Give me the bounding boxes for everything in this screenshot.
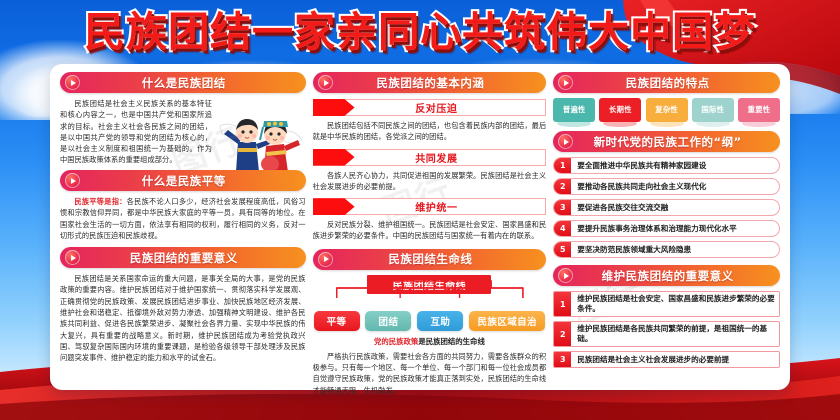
section-header-label: 民族团结的基本内涵 — [333, 75, 547, 91]
tag-importance[interactable]: 重要性 — [738, 98, 780, 122]
section-header-safeguard-significance[interactable]: 维护民族团结的重要意义 — [553, 265, 780, 286]
tag-label: 复杂性 — [655, 105, 678, 115]
numbered-list-safeguard: 1 维护民族团结是社会安定、国家昌盛和民族进步繁荣的必要条件。 2 维护民族团结… — [553, 291, 780, 368]
tag-label: 国际性 — [701, 105, 724, 115]
paragraph-oppose-oppression: 民族团结包括不同民族之间的团结，也包含着民族内部的团结，最后就是中华民族的团结，… — [313, 120, 547, 143]
subheader-oppose-oppression[interactable]: 反对压迫 — [313, 99, 547, 116]
tag-label: 普遍性 — [563, 105, 586, 115]
list-item-number: 2 — [554, 322, 571, 346]
section-header-label: 维护民族团结的重要意义 — [573, 268, 780, 284]
list-item-label: 民族团结是社会主义社会发展进步的必要前提 — [571, 352, 779, 367]
section-header-label: 民族团结的重要意义 — [80, 250, 306, 266]
intro-block: 民族团结是社会主义民族关系的基本特征和核心内容之一，也是中国共产党和国家所追求的… — [60, 98, 306, 170]
list-item-number: 2 — [554, 179, 571, 194]
tag-universality[interactable]: 普遍性 — [553, 98, 595, 122]
list-item-number: 5 — [554, 242, 571, 257]
tag-label: 长期性 — [609, 105, 632, 115]
paragraph-safeguard-unity: 反对民族分裂、维护祖国统一。民族团结是社会安定、国家昌盛和民族进步繁荣的必要条件… — [313, 219, 547, 242]
play-icon — [558, 268, 573, 283]
list-item[interactable]: 2 要推动各民族共同走向社会主义现代化 — [553, 178, 780, 195]
section-header-lifeline[interactable]: 民族团结生命线 — [313, 249, 547, 270]
paragraph-lead: 民族平等是指： — [74, 197, 126, 206]
section-header-significance-of-ethnic-unity[interactable]: 民族团结的重要意义 — [60, 247, 306, 268]
list-item[interactable]: 5 要坚决防范民族领域重大风险隐患 — [553, 241, 780, 258]
list-item[interactable]: 1 维护民族团结是社会安定、国家昌盛和民族进步繁荣的必要条件。 — [553, 291, 780, 317]
section-header-what-is-ethnic-equality[interactable]: 什么是民族平等 — [60, 170, 306, 191]
section-header-label: 什么是民族平等 — [80, 173, 306, 189]
section-header-label: 什么是民族团结 — [80, 75, 306, 91]
list-item-number: 1 — [554, 292, 571, 316]
section-header-label: 新时代党的民族工作的“纲” — [573, 134, 780, 150]
list-item-label: 要提升民族事务治理体系和治理能力现代化水平 — [571, 221, 779, 236]
list-item[interactable]: 1 要全面推进中华民族共有精神家园建设 — [553, 157, 780, 174]
list-item-number: 3 — [554, 352, 571, 367]
paragraph-what-is-ethnic-unity: 民族团结是社会主义民族关系的基本特征和核心内容之一，也是中国共产党和国家所追求的… — [60, 98, 212, 166]
paragraph-common-development: 各族人民齐心协力，共同促进祖国的发展繁荣。民族团结是社会主义社会发展进步的必要前… — [313, 170, 547, 193]
left-column: 什么是民族团结 民族团结是社会主义民族关系的基本特征和核心内容之一，也是中国共产… — [60, 72, 306, 384]
list-item-number: 3 — [554, 200, 571, 215]
play-icon — [558, 134, 573, 149]
title-part-1: 民族团结一家亲 — [84, 6, 378, 58]
poster-title: 民族团结一家亲同心共筑伟大中国梦 — [0, 6, 840, 58]
tag-international[interactable]: 国际性 — [692, 98, 734, 122]
section-header-label: 民族团结的特点 — [573, 75, 780, 91]
paragraph-lifeline: 严格执行民族政策，需要社会各方面的共同努力，需要各族群众的积极参与。只有每一个地… — [313, 351, 547, 396]
characteristic-tag-row: 普遍性 长期性 复杂性 国际性 重要性 — [553, 98, 780, 122]
list-item[interactable]: 3 民族团结是社会主义社会发展进步的必要前提 — [553, 351, 780, 368]
subheader-safeguard-unity[interactable]: 维护统一 — [313, 198, 547, 215]
middle-column: 民族团结的基本内涵 反对压迫 民族团结包括不同民族之间的团结，也包含着民族内部的… — [313, 72, 547, 384]
tag-label: 重要性 — [748, 105, 771, 115]
diagram-caption-highlight: 党的民族政策 — [374, 337, 418, 346]
list-item[interactable]: 4 要提升民族事务治理体系和治理能力现代化水平 — [553, 220, 780, 237]
play-icon — [318, 252, 333, 267]
section-header-new-era-outline[interactable]: 新时代党的民族工作的“纲” — [553, 131, 780, 152]
lifeline-diagram: 民族团结生命线 平等 团结 互助 民族区 — [313, 275, 547, 349]
title-part-2: 同心共筑伟大中国梦 — [378, 6, 756, 58]
right-column: 民族团结的特点 普遍性 长期性 复杂性 国际性 重要性 — [553, 72, 780, 384]
tag-long-term[interactable]: 长期性 — [599, 98, 641, 122]
section-header-label: 民族团结生命线 — [333, 251, 547, 267]
section-header-characteristics[interactable]: 民族团结的特点 — [553, 72, 780, 93]
play-icon — [65, 250, 80, 265]
list-item-label: 维护民族团结是各民族共同繁荣的前提，是祖国统一的基础。 — [571, 322, 779, 346]
play-icon — [65, 173, 80, 188]
diagram-connector-lines — [313, 275, 547, 325]
content-card: 图行 图行 图行 什么是民族团结 民族团结是社会主义民族关系的基本特征和核心内容… — [50, 64, 790, 390]
numbered-list-new-era: 1 要全面推进中华民族共有精神家园建设 2 要推动各民族共同走向社会主义现代化 … — [553, 157, 780, 258]
list-item-label: 要全面推进中华民族共有精神家园建设 — [571, 158, 779, 173]
list-item-label: 维护民族团结是社会安定、国家昌盛和民族进步繁荣的必要条件。 — [571, 292, 779, 316]
tag-complexity[interactable]: 复杂性 — [646, 98, 688, 122]
list-item-label: 要促进各民族交往交流交融 — [571, 200, 779, 215]
list-item-label: 要坚决防范民族领域重大风险隐患 — [571, 242, 779, 257]
poster-root: 民族团结一家亲同心共筑伟大中国梦 图行 图行 图行 什么是民族团结 民族团结是社… — [0, 0, 840, 420]
play-icon — [558, 75, 573, 90]
list-item-label: 要推动各民族共同走向社会主义现代化 — [571, 179, 779, 194]
list-item-number: 1 — [554, 158, 571, 173]
play-icon — [65, 75, 80, 90]
paragraph-significance: 民族团结是关系国家命运的重大问题，是事关全局的大事，是党的民族政策的重要内容。维… — [60, 273, 306, 363]
list-item-number: 4 — [554, 221, 571, 236]
play-icon — [318, 75, 333, 90]
list-item[interactable]: 3 要促进各民族交往交流交融 — [553, 199, 780, 216]
section-header-basic-connotation[interactable]: 民族团结的基本内涵 — [313, 72, 547, 93]
list-item[interactable]: 2 维护民族团结是各民族共同繁荣的前提，是祖国统一的基础。 — [553, 321, 780, 347]
diagram-caption: 党的民族政策是民族团结的生命线 — [313, 336, 547, 347]
section-header-what-is-ethnic-unity[interactable]: 什么是民族团结 — [60, 72, 306, 93]
paragraph-ethnic-equality: 民族平等是指：各民族不论人口多少，经济社会发展程度高低，风俗习惯和宗教信仰异同，… — [60, 196, 306, 241]
subheader-common-development[interactable]: 共同发展 — [313, 149, 547, 166]
diagram-caption-rest: 是民族团结的生命线 — [418, 337, 485, 346]
